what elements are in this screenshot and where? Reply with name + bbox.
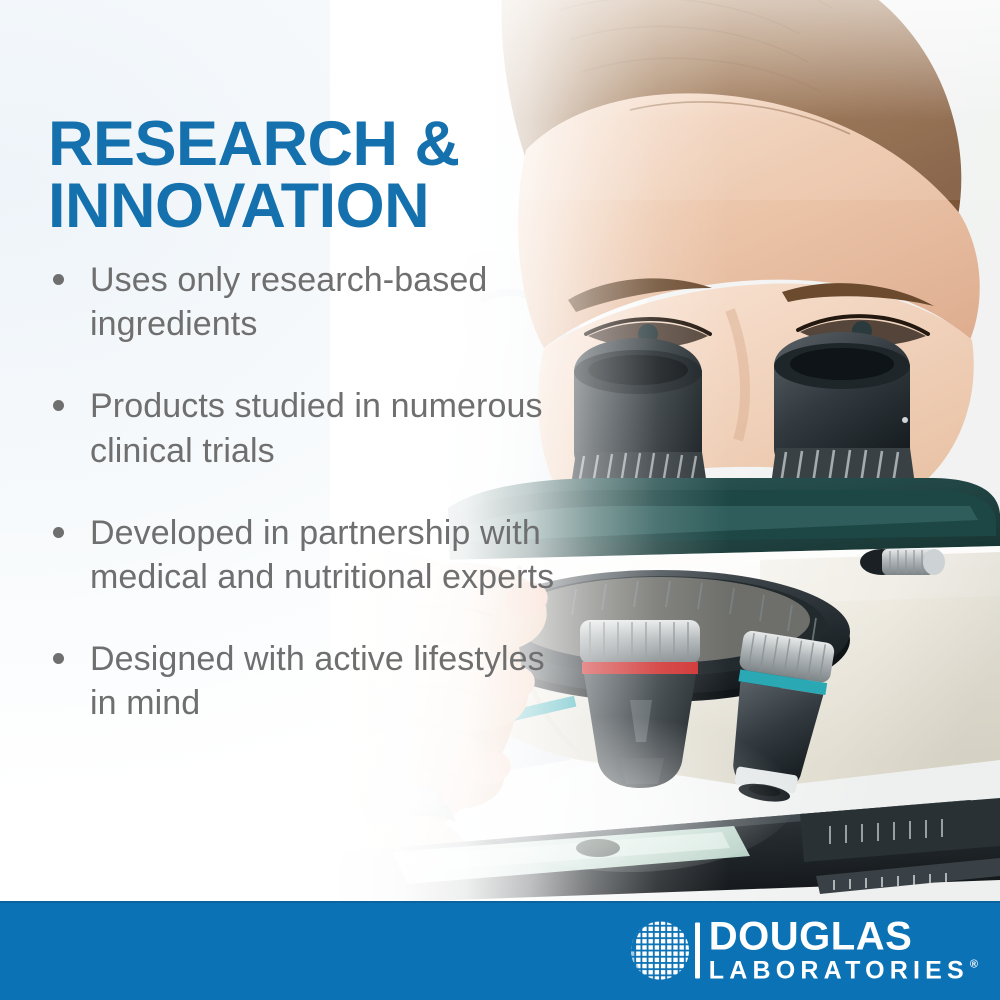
bullet-dot-icon (53, 400, 64, 411)
brand-footer-bar: DOUGLAS LABORATORIES ® (0, 901, 1000, 1000)
logo-secondary-text: LABORATORIES (709, 958, 969, 984)
list-item: Designed with active lifestyles in mind (44, 637, 574, 725)
bullet-dot-icon (53, 653, 64, 664)
list-item-label: Developed in partnership with medical an… (90, 514, 554, 596)
registered-trademark-icon: ® (970, 959, 978, 970)
list-item-label: Designed with active lifestyles in mind (90, 640, 545, 722)
list-item: Developed in partnership with medical an… (44, 511, 574, 599)
douglas-laboratories-logo: DOUGLAS LABORATORIES ® (629, 917, 978, 984)
bullet-dot-icon (53, 274, 64, 285)
benefits-list: Uses only research-based ingredients Pro… (44, 258, 574, 726)
bullet-dot-icon (53, 527, 64, 538)
list-item-label: Uses only research-based ingredients (90, 261, 487, 343)
list-item-label: Products studied in numerous clinical tr… (90, 387, 543, 469)
list-item: Products studied in numerous clinical tr… (44, 384, 574, 472)
footer-top-divider (0, 901, 1000, 903)
logo-separator-bar (695, 922, 700, 978)
dotted-grid-circle-logo-mark (629, 919, 691, 981)
logo-primary-text: DOUGLAS (709, 917, 978, 955)
logo-wordmark: DOUGLAS LABORATORIES ® (709, 917, 978, 984)
list-item: Uses only research-based ingredients (44, 258, 574, 346)
research-innovation-card: RESEARCH & INNOVATION Uses only research… (0, 0, 1000, 1000)
logo-secondary-row: LABORATORIES ® (709, 958, 978, 984)
page-title: RESEARCH & INNOVATION (48, 114, 568, 237)
